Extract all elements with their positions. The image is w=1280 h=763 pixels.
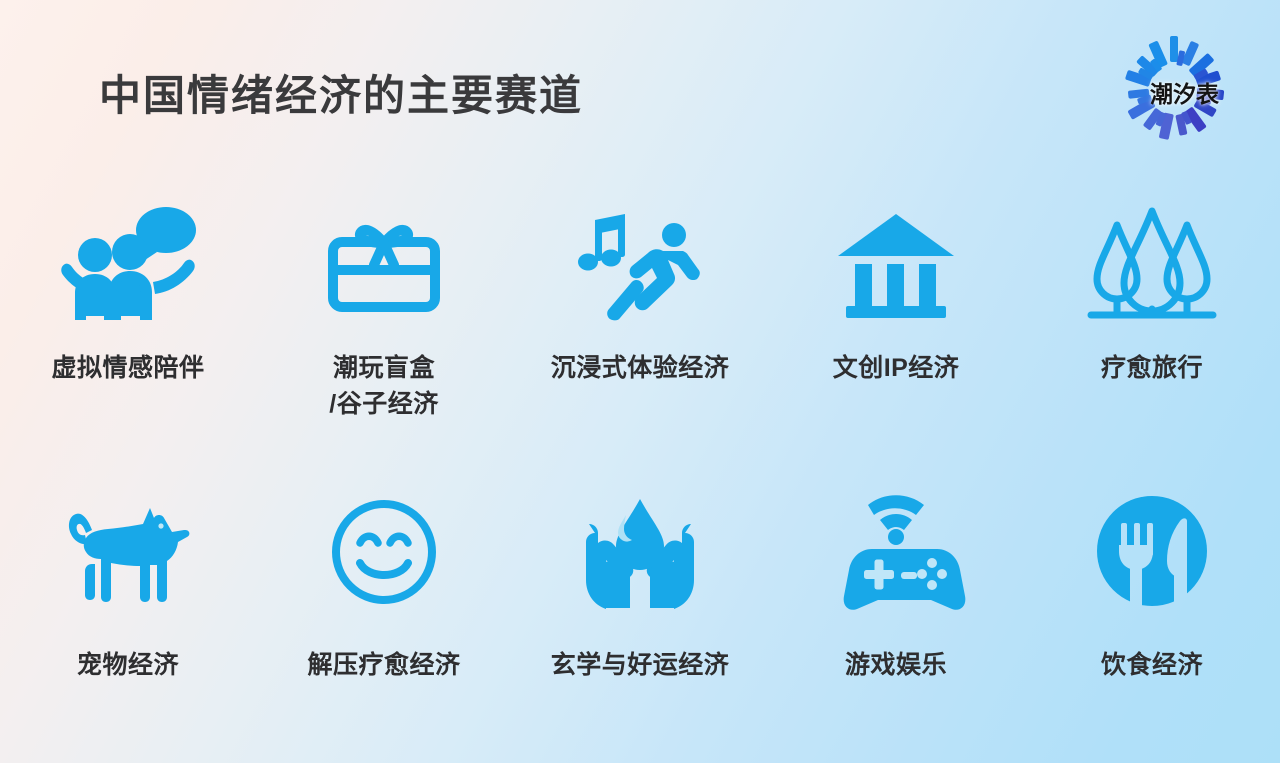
- museum-building-icon: [834, 189, 958, 337]
- track-card-5[interactable]: 疗愈旅行: [1024, 165, 1280, 450]
- runner-music-icon: [570, 189, 710, 337]
- brand-logo: 潮汐表: [1112, 33, 1236, 147]
- track-card-7[interactable]: 解压疗愈经济: [256, 450, 512, 735]
- page-title: 中国情绪经济的主要赛道: [99, 62, 583, 123]
- track-label-9: 游戏娱乐: [845, 648, 947, 684]
- hands-water-drop-icon: [576, 478, 704, 626]
- fork-knife-plate-icon: [1088, 478, 1216, 626]
- track-card-2[interactable]: 潮玩盲盒 /谷子经济: [256, 165, 512, 450]
- gift-box-icon: [319, 189, 449, 337]
- track-label-8: 玄学与好运经济: [551, 648, 730, 684]
- header: 中国情绪经济的主要赛道: [0, 0, 1280, 160]
- track-card-4[interactable]: 文创IP经济: [768, 165, 1024, 450]
- track-card-10[interactable]: 饮食经济: [1024, 450, 1280, 735]
- two-people-chat-icon: [53, 189, 203, 337]
- trees-icon: [1085, 189, 1219, 337]
- slide-canvas: 中国情绪经济的主要赛道: [0, 0, 1280, 763]
- gamepad-wifi-icon: [827, 478, 965, 626]
- track-card-8[interactable]: 玄学与好运经济: [512, 450, 768, 735]
- track-card-3[interactable]: 沉浸式体验经济: [512, 165, 768, 450]
- track-card-9[interactable]: 游戏娱乐: [768, 450, 1024, 735]
- track-label-2: 潮玩盲盒 /谷子经济: [329, 351, 438, 422]
- dog-icon: [62, 478, 194, 626]
- track-label-6: 宠物经济: [77, 648, 179, 684]
- track-card-6[interactable]: 宠物经济: [0, 450, 256, 735]
- track-label-10: 饮食经济: [1101, 648, 1203, 684]
- track-label-7: 解压疗愈经济: [307, 648, 460, 684]
- track-label-4: 文创IP经济: [833, 351, 960, 387]
- track-label-1: 虚拟情感陪伴: [51, 351, 204, 387]
- track-label-5: 疗愈旅行: [1101, 351, 1203, 387]
- track-label-3: 沉浸式体验经济: [551, 351, 730, 387]
- smiley-face-icon: [325, 478, 443, 626]
- track-grid: 虚拟情感陪伴 潮玩盲盒 /谷子经济: [0, 165, 1280, 735]
- track-card-1[interactable]: 虚拟情感陪伴: [0, 165, 256, 450]
- logo-text: 潮汐表: [1150, 75, 1219, 109]
